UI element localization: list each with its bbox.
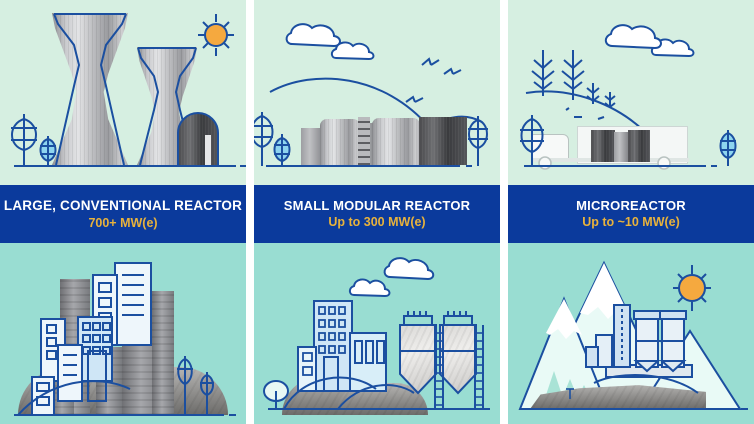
facility-and-ground	[508, 243, 754, 424]
banner-title: SMALL MODULAR REACTOR	[284, 199, 470, 214]
shrub	[264, 381, 288, 409]
banner-large-conventional-reactor: LARGE, CONVENTIONAL REACTOR 700+ MW(e)	[0, 185, 246, 243]
ground-line	[254, 0, 500, 185]
banner-microreactor: MICROREACTOR Up to ~10 MW(e)	[508, 185, 754, 243]
banner-capacity: Up to ~10 MW(e)	[582, 215, 680, 229]
panel-top-large-conventional-reactor	[0, 0, 246, 185]
panel-bottom-microreactor	[508, 243, 754, 424]
banner-title: LARGE, CONVENTIONAL REACTOR	[4, 198, 242, 213]
panel-bottom-small-modular-reactor	[254, 243, 500, 424]
banner-title: MICROREACTOR	[576, 199, 686, 214]
silo-outlines-ladders-ground	[254, 243, 500, 424]
banner-small-modular-reactor: SMALL MODULAR REACTOR Up to 300 MW(e)	[254, 185, 500, 243]
panel-bottom-large-conventional-reactor	[0, 243, 246, 424]
reactor-comparison-infographic: LARGE, CONVENTIONAL REACTOR 700+ MW(e) S…	[0, 0, 754, 424]
banner-capacity: Up to 300 MW(e)	[328, 215, 425, 229]
panel-top-microreactor	[508, 0, 754, 185]
city-outlined-buildings	[0, 243, 246, 424]
panel-top-small-modular-reactor	[254, 0, 500, 185]
tree-group	[0, 0, 246, 185]
ridge-marker	[566, 389, 574, 399]
banner-capacity: 700+ MW(e)	[88, 216, 157, 230]
truck-wheels-and-ground	[508, 0, 754, 185]
